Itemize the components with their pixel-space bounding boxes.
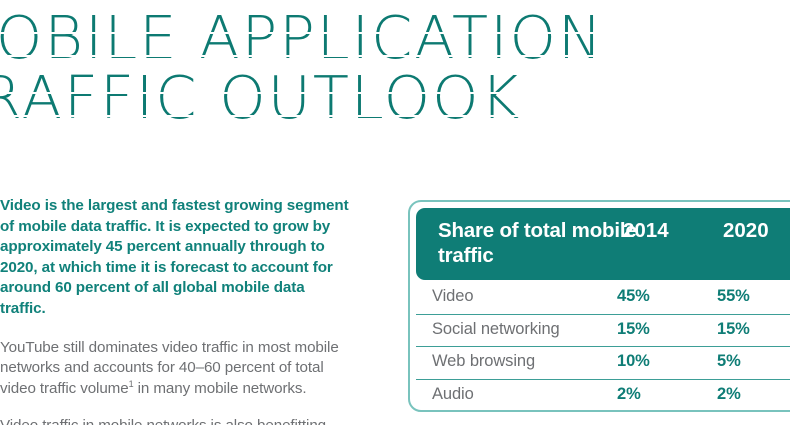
share-of-traffic-table: Share of total mobile traffic 2014 2020 …: [408, 200, 790, 412]
body-paragraph-part-2: in many mobile networks.: [133, 380, 306, 397]
body-copy: Video is the largest and fastest growing…: [0, 196, 350, 425]
table-header-col-2014: 2014: [623, 218, 669, 243]
page-title: MOBILE APPLICATION TRAFFIC OUTLOOK: [0, 8, 790, 128]
page-title-line-1: MOBILE APPLICATION: [0, 8, 790, 68]
report-page: MOBILE APPLICATION TRAFFIC OUTLOOK Video…: [0, 0, 790, 425]
row-value-2020: 15%: [717, 320, 750, 339]
table-body: Video 45% 55% Social networking 15% 15% …: [416, 282, 790, 404]
row-label: Web browsing: [432, 352, 535, 371]
row-label: Social networking: [432, 320, 560, 339]
table-header: Share of total mobile traffic 2014 2020: [416, 208, 790, 280]
row-value-2014: 2%: [617, 385, 641, 404]
table-header-col-2020: 2020: [723, 218, 769, 243]
row-value-2014: 15%: [617, 320, 650, 339]
row-value-2014: 10%: [617, 352, 650, 371]
row-value-2020: 55%: [717, 287, 750, 306]
table-row: Video 45% 55%: [416, 282, 790, 315]
body-paragraph: YouTube still dominates video traffic in…: [0, 338, 350, 400]
table-row: Social networking 15% 15%: [416, 315, 790, 348]
table-row: Audio 2% 2%: [416, 380, 790, 412]
row-label: Audio: [432, 385, 474, 404]
lead-paragraph: Video is the largest and fastest growing…: [0, 196, 350, 320]
tail-paragraph: Video traffic in mobile networks is also…: [0, 416, 350, 425]
page-title-line-2: TRAFFIC OUTLOOK: [0, 68, 790, 128]
row-value-2020: 2%: [717, 385, 741, 404]
table-row: Web browsing 10% 5%: [416, 347, 790, 380]
row-label: Video: [432, 287, 473, 306]
row-value-2020: 5%: [717, 352, 741, 371]
row-value-2014: 45%: [617, 287, 650, 306]
page-content: MOBILE APPLICATION TRAFFIC OUTLOOK Video…: [0, 0, 790, 425]
